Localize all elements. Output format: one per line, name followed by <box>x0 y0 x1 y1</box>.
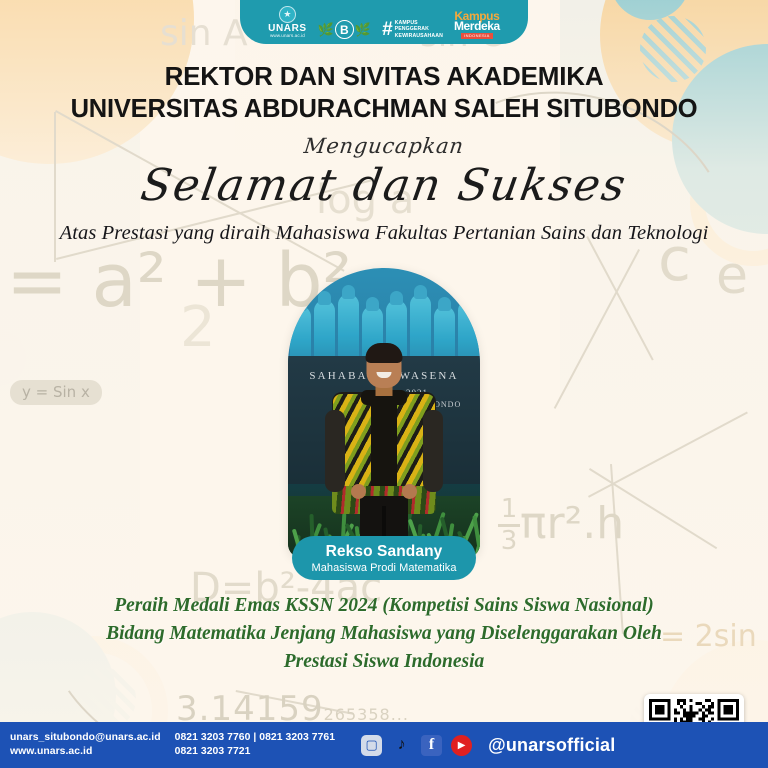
photo-person <box>325 346 443 558</box>
student-name-badge: Rekso Sandany Mahasiswa Prodi Matematika <box>292 536 476 580</box>
tiktok-icon[interactable]: ♪ <box>391 735 412 756</box>
person-lapel <box>371 392 397 496</box>
footer-bar: unars_situbondo@unars.ac.id www.unars.ac… <box>0 722 768 768</box>
footer-website[interactable]: www.unars.ac.id <box>10 745 161 759</box>
logo-banner: ★ UNARS www.unars.ac.id 🌿 B 🌿 # KAMPUS P… <box>240 0 528 44</box>
instagram-icon[interactable]: ▢ <box>361 735 382 756</box>
unars-logo-url: www.unars.ac.id <box>270 34 305 39</box>
achievement-line-1: Peraih Medali Emas KSSN 2024 (Kompetisi … <box>28 592 740 620</box>
kampus-merdeka-line-2: Merdeka <box>454 20 500 32</box>
achievement-line-2: Bidang Matematika Jenjang Mahasiswa yang… <box>28 620 740 648</box>
footer-social-icons: ▢ ♪ f ▶ <box>361 735 472 756</box>
person-arm-left <box>325 410 345 492</box>
poster-canvas: sin A sin B sin C log a = a² + b² y = Si… <box>0 0 768 768</box>
facebook-icon[interactable]: f <box>421 735 442 756</box>
akreditasi-grade: B <box>335 20 354 39</box>
kampus-penggerak-text: KAMPUS PENGGERAK KEWIRAUSAHAAN <box>395 20 443 38</box>
student-name: Rekso Sandany <box>326 543 443 561</box>
kampus-merdeka-line-3: INDONESIA <box>461 33 493 39</box>
footer-contact-col-2: 0821 3203 7760 | 0821 3203 7761 0821 320… <box>175 731 335 760</box>
laurel-right-icon: 🌿 <box>355 22 371 38</box>
kpk-line-3: KEWIRAUSAHAAN <box>395 33 443 39</box>
footer-contact: unars_situbondo@unars.ac.id www.unars.ac… <box>10 731 335 760</box>
poster-title: REKTOR DAN SIVITAS AKADEMIKA UNIVERSITAS… <box>0 60 768 126</box>
script-mengucapkan: Mengucapkan <box>0 134 768 158</box>
hashtag-icon: # <box>382 20 393 39</box>
person-hair <box>366 343 403 363</box>
laurel-left-icon: 🌿 <box>318 22 334 38</box>
footer-phone-1: 0821 3203 7760 | 0821 3203 7761 <box>175 731 335 745</box>
achievement-line-3: Prestasi Siswa Indonesia <box>28 648 740 676</box>
poster-subtitle: Atas Prestasi yang diraih Mahasiswa Faku… <box>0 222 768 245</box>
title-line-1: REKTOR DAN SIVITAS AKADEMIKA <box>0 60 768 93</box>
kampus-penggerak-logo: # KAMPUS PENGGERAK KEWIRAUSAHAAN <box>382 20 443 39</box>
person-hand-right <box>402 484 417 499</box>
title-line-2: UNIVERSITAS ABDURACHMAN SALEH SITUBONDO <box>0 93 768 126</box>
akreditasi-b-logo: 🌿 B 🌿 <box>318 20 371 39</box>
student-role: Mahasiswa Prodi Matematika <box>312 562 457 574</box>
unars-logo: ★ UNARS www.unars.ac.id <box>268 6 307 39</box>
achievement-text: Peraih Medali Emas KSSN 2024 (Kompetisi … <box>28 592 740 676</box>
person-hand-left <box>351 484 366 499</box>
script-selamat-dan-sukses: Selamat dan Sukses <box>0 160 768 211</box>
unars-crest-icon: ★ <box>279 6 296 23</box>
social-handle[interactable]: @unarsofficial <box>488 735 615 756</box>
student-photo: SAHABAT NAWASENA 2021 SITUBONDO <box>288 268 480 558</box>
footer-contact-col-1: unars_situbondo@unars.ac.id www.unars.ac… <box>10 731 161 760</box>
youtube-icon[interactable]: ▶ <box>451 735 472 756</box>
kampus-merdeka-logo: Kampus Merdeka INDONESIA <box>454 10 500 40</box>
person-arm-right <box>423 410 443 492</box>
footer-phone-2: 0821 3203 7721 <box>175 745 335 759</box>
footer-email[interactable]: unars_situbondo@unars.ac.id <box>10 731 161 745</box>
